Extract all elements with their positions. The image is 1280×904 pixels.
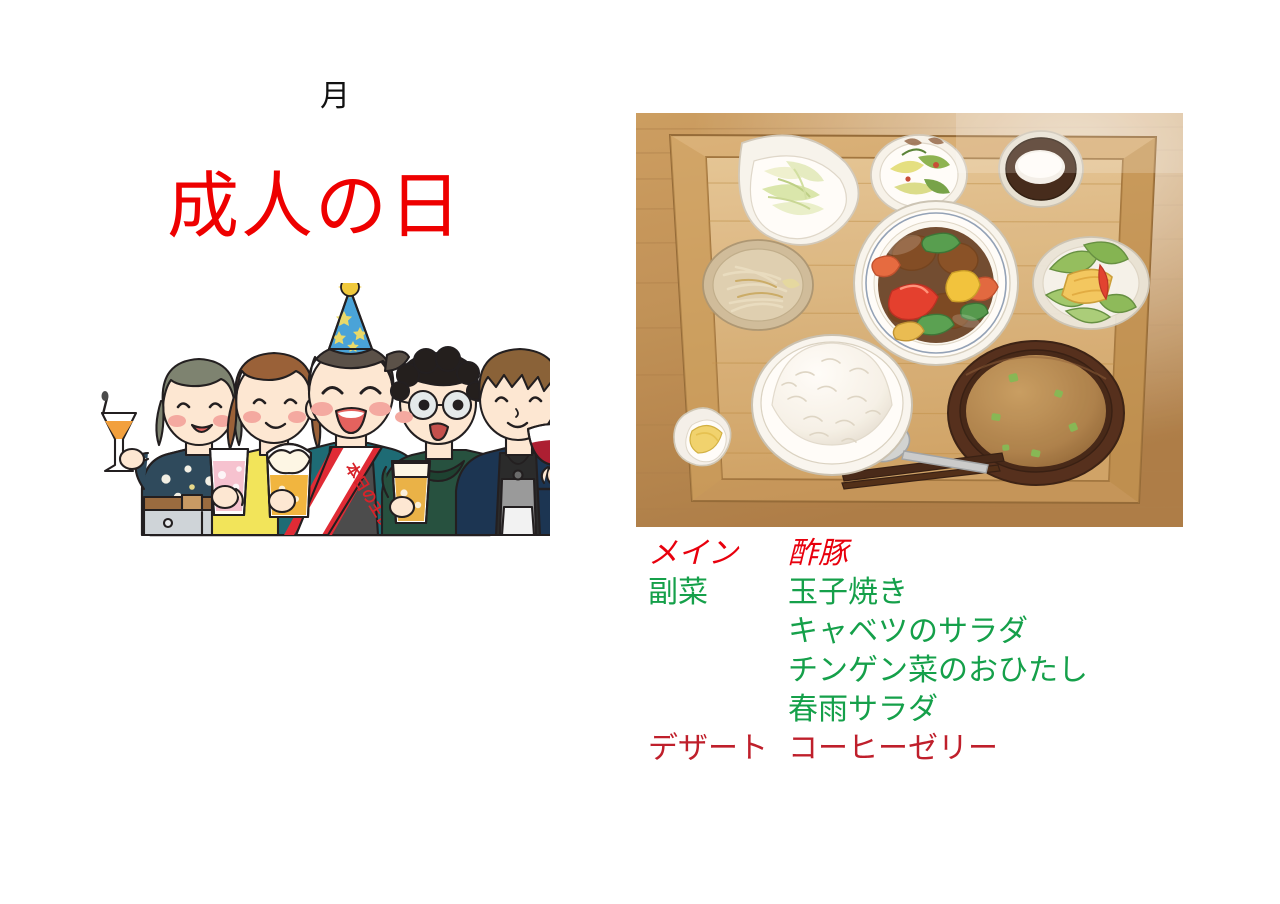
menu-value-side-2: キャベツのサラダ bbox=[788, 612, 1028, 651]
menu-row-side-4: 春雨サラダ bbox=[648, 690, 1268, 729]
menu-value-side-1: 玉子焼き bbox=[788, 573, 908, 612]
menu-row-dessert: デザートコーヒーゼリー bbox=[648, 729, 1268, 768]
menu-label-dessert: デザート bbox=[648, 729, 788, 768]
menu-label-main: メイン bbox=[648, 534, 788, 573]
day-header-monday: 月 bbox=[235, 82, 435, 112]
menu-value-side-4: 春雨サラダ bbox=[788, 690, 938, 729]
menu-value-dessert: コーヒーゼリー bbox=[788, 729, 998, 768]
menu-row-main: メイン酢豚 bbox=[648, 534, 1268, 573]
celebration-people-illustration: 本日の主役 bbox=[82, 283, 550, 551]
menu-page: 月 成人の日 bbox=[0, 0, 1280, 904]
menu-list: メイン酢豚 副菜玉子焼き キャベツのサラダ チンゲン菜のおひたし 春雨サラダ デ… bbox=[648, 534, 1268, 768]
menu-row-side-1: 副菜玉子焼き bbox=[648, 573, 1268, 612]
menu-value-side-3: チンゲン菜のおひたし bbox=[788, 651, 1088, 690]
menu-value-main: 酢豚 bbox=[788, 534, 848, 573]
day-column-monday: 月 成人の日 bbox=[0, 0, 630, 904]
menu-label-side: 副菜 bbox=[648, 573, 788, 612]
day-column-tuesday: 火 bbox=[630, 0, 1280, 904]
menu-row-side-2: キャベツのサラダ bbox=[648, 612, 1268, 651]
lunch-set-photo bbox=[636, 113, 1183, 527]
menu-row-side-3: チンゲン菜のおひたし bbox=[648, 651, 1268, 690]
holiday-title: 成人の日 bbox=[0, 168, 630, 244]
